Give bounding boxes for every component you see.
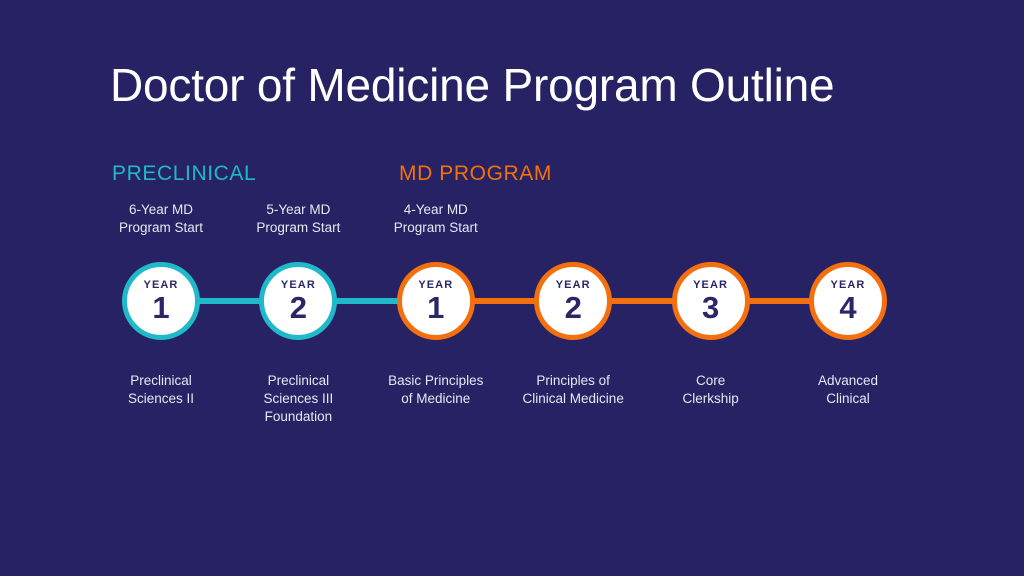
timeline-node-md-year-1[interactable]: YEAR 1 <box>397 262 475 340</box>
timeline-connector-1-2 <box>194 298 265 304</box>
year-number: 4 <box>839 292 856 323</box>
year-circle-md-3[interactable]: YEAR 3 <box>672 262 750 340</box>
program-start-note-6-year: 6-Year MD Program Start <box>81 201 241 237</box>
year-circle-md-2[interactable]: YEAR 2 <box>534 262 612 340</box>
year-circle-preclinical-2[interactable]: YEAR 2 <box>259 262 337 340</box>
year-circle-md-1[interactable]: YEAR 1 <box>397 262 475 340</box>
year-label: YEAR <box>144 280 179 291</box>
year-label: YEAR <box>693 280 728 291</box>
year-number: 1 <box>152 292 169 323</box>
year-label: YEAR <box>418 280 453 291</box>
year-number: 2 <box>565 292 582 323</box>
year-number: 3 <box>702 292 719 323</box>
program-start-note-5-year: 5-Year MD Program Start <box>218 201 378 237</box>
program-start-note-4-year: 4-Year MD Program Start <box>356 201 516 237</box>
timeline-node-md-year-2[interactable]: YEAR 2 <box>534 262 612 340</box>
timeline-connector-2-3 <box>331 298 402 304</box>
year-label: YEAR <box>556 280 591 291</box>
year-number: 2 <box>290 292 307 323</box>
year-circle-md-4[interactable]: YEAR 4 <box>809 262 887 340</box>
timeline-node-preclinical-year-1[interactable]: YEAR 1 <box>122 262 200 340</box>
timeline-node-preclinical-year-2[interactable]: YEAR 2 <box>259 262 337 340</box>
timeline-connector-4-5 <box>606 298 677 304</box>
timeline-node-md-year-3[interactable]: YEAR 3 <box>672 262 750 340</box>
year-label: YEAR <box>281 280 316 291</box>
year-number: 1 <box>427 292 444 323</box>
timeline-node-md-year-4[interactable]: YEAR 4 <box>809 262 887 340</box>
timeline-connector-5-6 <box>744 298 815 304</box>
year-label: YEAR <box>831 280 866 291</box>
program-timeline: 6-Year MD Program Start YEAR 1 Preclinic… <box>0 0 1024 576</box>
node-caption-md-year-4: Advanced Clinical <box>763 372 933 408</box>
year-circle-preclinical-1[interactable]: YEAR 1 <box>122 262 200 340</box>
timeline-connector-3-4 <box>469 298 540 304</box>
